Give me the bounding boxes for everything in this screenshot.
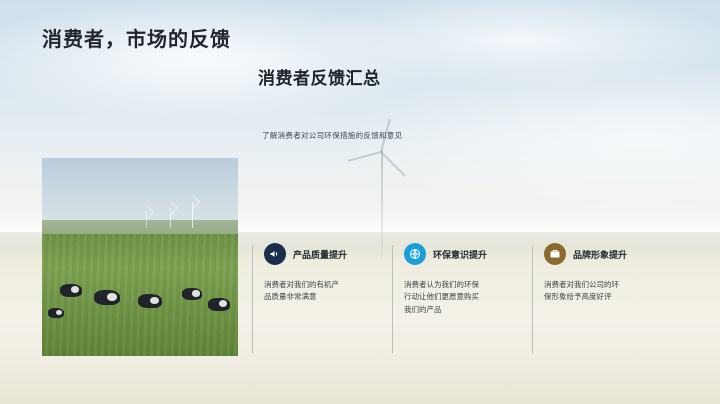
card-title: 产品质量提升	[293, 248, 347, 261]
card-divider	[532, 245, 533, 353]
card-body: 消费者对我们公司的环保形象给予高度好评	[544, 279, 622, 304]
pasture-photo	[42, 158, 238, 356]
feedback-card-list: 产品质量提升 消费者对我们的有机产品质量非常满意 环保意识提升 消费者认为我们的…	[252, 243, 672, 316]
card-divider	[392, 245, 393, 353]
slide: 消费者，市场的反馈 消费者反馈汇总 了解消费者对公司环保措施的反馈和意见 产品质…	[0, 0, 720, 404]
card-title: 环保意识提升	[433, 248, 487, 261]
content-title: 消费者反馈汇总	[258, 64, 381, 89]
feedback-card-brand-image: 品牌形象提升 消费者对我们公司的环保形象给予高度好评	[532, 243, 672, 316]
feedback-card-product-quality: 产品质量提升 消费者对我们的有机产品质量非常满意	[252, 243, 392, 316]
globe-icon	[404, 243, 426, 265]
card-body: 消费者对我们的有机产品质量非常满意	[264, 279, 342, 304]
feedback-card-environmental-awareness: 环保意识提升 消费者认为我们的环保行动让他们更愿意购买我们的产品	[392, 243, 532, 316]
card-body: 消费者认为我们的环保行动让他们更愿意购买我们的产品	[404, 279, 482, 316]
briefcase-icon	[544, 243, 566, 265]
card-title: 品牌形象提升	[573, 248, 627, 261]
content-subtitle: 了解消费者对公司环保措施的反馈和意见	[262, 130, 402, 141]
slide-title: 消费者，市场的反馈	[42, 23, 231, 52]
megaphone-icon	[264, 243, 286, 265]
card-divider	[252, 245, 253, 353]
